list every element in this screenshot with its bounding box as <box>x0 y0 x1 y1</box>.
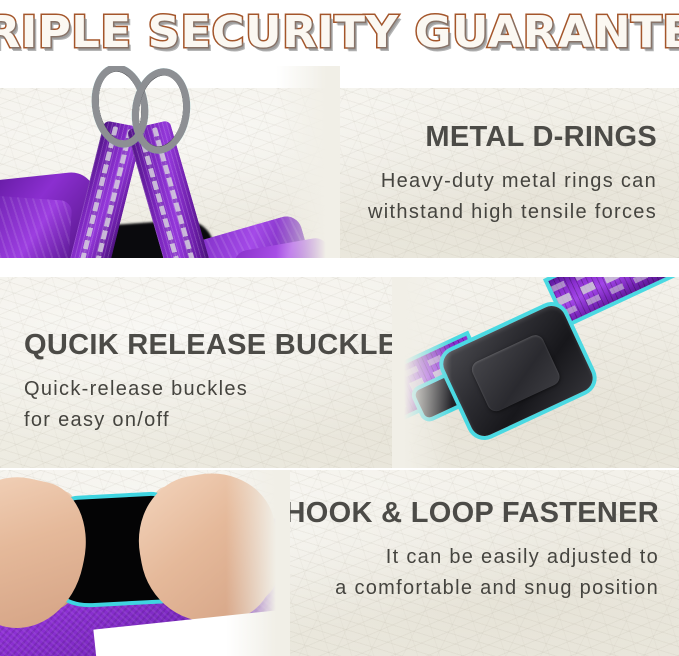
photo-edge-fade <box>276 58 340 258</box>
feature-heading: HOOK & LOOP FASTENER <box>285 498 659 530</box>
feature-heading: METAL D-RINGS <box>368 122 657 154</box>
photo-metal-d-rings <box>0 58 340 258</box>
page-title: TRIPLE SECURITY GUARANTEE <box>0 11 679 55</box>
feature-text-quick-release-buckle: QUCIK RELEASE BUCKLE Quick-release buckl… <box>24 330 397 436</box>
feature-body-line: Quick-release buckles <box>24 374 397 405</box>
reflective-stitch <box>562 277 679 317</box>
buckle-icon <box>439 301 598 440</box>
photo-hook-and-loop-fastener <box>0 470 290 656</box>
feature-body-line: for easy on/off <box>24 405 397 436</box>
buckle-face-plate <box>469 332 563 414</box>
harness-body <box>0 195 73 258</box>
feature-body-line: Heavy-duty metal rings can <box>368 166 657 197</box>
photo-edge-fade <box>392 277 452 468</box>
feature-body-line: a comfortable and snug position <box>285 573 659 604</box>
photo-quick-release-buckle <box>392 277 679 468</box>
feature-body-line: withstand high tensile forces <box>368 197 657 228</box>
page-title-bar: TRIPLE SECURITY GUARANTEE <box>0 0 679 66</box>
photo-edge-fade <box>226 470 290 656</box>
feature-text-metal-d-rings: METAL D-RINGS Heavy-duty metal rings can… <box>368 122 657 228</box>
feature-text-hook-and-loop-fastener: HOOK & LOOP FASTENER It can be easily ad… <box>285 498 659 604</box>
feature-heading: QUCIK RELEASE BUCKLE <box>24 330 397 362</box>
harness-webbing <box>548 277 679 323</box>
feature-body-line: It can be easily adjusted to <box>285 542 659 573</box>
